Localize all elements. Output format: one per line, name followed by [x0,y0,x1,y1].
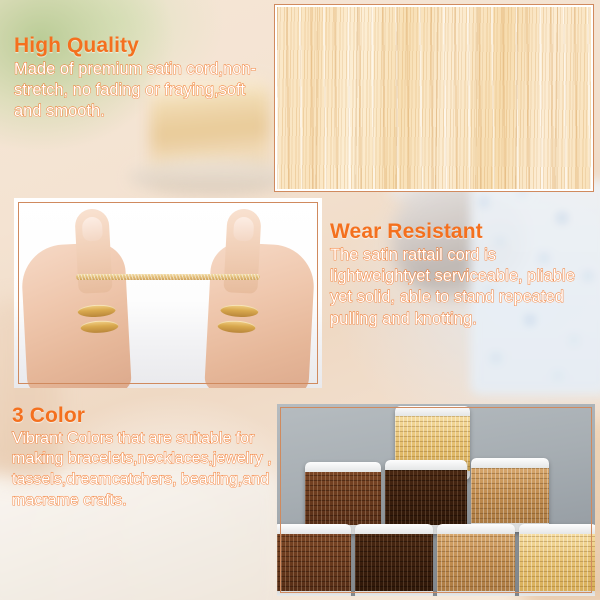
spool-camel-bottom-3 [437,524,515,596]
photo-hands-stretch-test [14,198,322,388]
feature-block-wear-resistant: Wear Resistant The satin rattail cord is… [330,220,596,330]
feature-body-wear-resistant: The satin rattail cord is lightweightyet… [330,245,596,331]
left-hand [20,241,132,388]
right-fingernail [233,217,254,242]
feature-block-three-color: 3 Color Vibrant Colors that are suitable… [12,404,274,512]
spool-camel-mid-right [471,458,549,532]
cord-loop-left-upper [77,304,116,318]
product-infographic-poster: High Quality Made of premium satin cord,… [0,0,600,600]
left-index-finger [74,208,112,294]
spool-brown-bottom-1 [277,524,351,596]
spools-image [277,404,595,596]
right-index-finger [223,208,261,294]
spool-gold-bottom-4 [519,524,595,596]
photo-spools-pyramid [277,404,595,596]
cord-loop-left-lower [80,320,119,334]
left-fingernail [82,217,103,242]
feature-block-high-quality: High Quality Made of premium satin cord,… [14,34,266,123]
feature-heading-high-quality: High Quality [14,34,266,58]
feature-heading-three-color: 3 Color [12,404,274,428]
stretched-cord [76,274,260,280]
spool-dark-brown-bottom-2 [355,524,433,596]
spool-dark-brown-mid-center [385,460,467,534]
hands-stretch-image [14,198,322,388]
right-hand [204,241,316,388]
feature-body-high-quality: Made of premium satin cord,non-stretch, … [14,59,266,123]
cord-loop-right-upper [220,304,259,318]
photo-cord-closeup [274,4,594,192]
feature-body-three-color: Vibrant Colors that are suitable for mak… [12,429,274,512]
feature-heading-wear-resistant: Wear Resistant [330,220,596,244]
background-blurred-plate [128,160,298,194]
cord-loop-right-lower [217,320,256,334]
cord-texture-image [277,7,591,189]
